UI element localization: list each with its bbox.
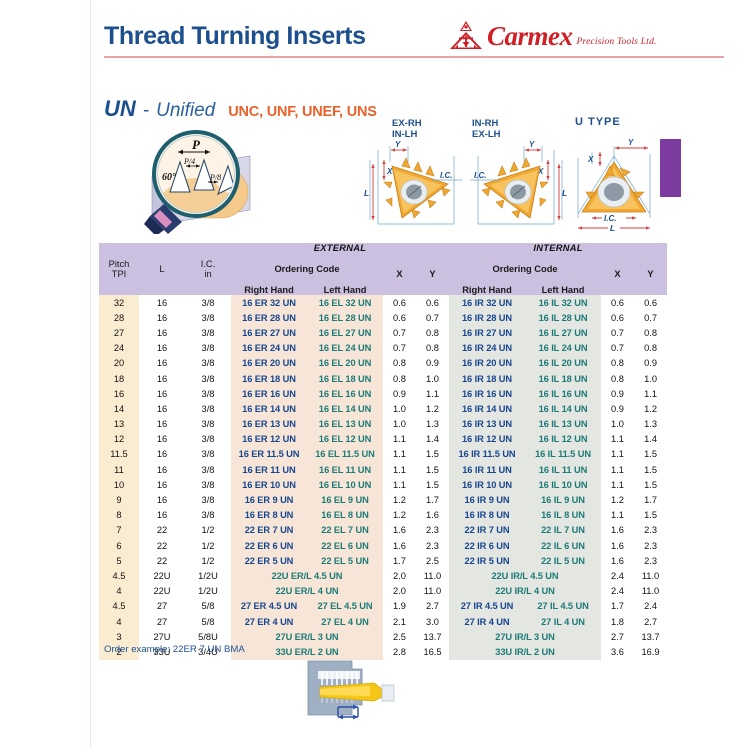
cell-external-left-hand: 27 EL 4 UN xyxy=(307,614,383,629)
cell-external-right-hand: 16 ER 32 UN xyxy=(231,295,307,310)
cell-ic: 3/8 xyxy=(185,477,231,492)
subheader-external-ordering-code: Ordering Code xyxy=(231,253,383,285)
cell-external-left-hand: 16 EL 10 UN xyxy=(307,477,383,492)
cell-internal-left-hand: 16 IL 13 UN xyxy=(525,417,601,432)
cell-external-x: 0.9 xyxy=(383,386,416,401)
cell-internal-y: 0.8 xyxy=(634,341,667,356)
table-row: 6221/222 ER 6 UN22 EL 6 UN1.62.322 IR 6 … xyxy=(99,538,667,553)
svg-text:L: L xyxy=(610,223,615,233)
cell-ic: 3/8 xyxy=(185,447,231,462)
cell-internal-y: 1.5 xyxy=(634,477,667,492)
magnifier-thread-profile-icon: P P/4 P/8 60° xyxy=(100,126,350,234)
cell-internal-x: 0.7 xyxy=(601,325,634,340)
page-header: Thread Turning Inserts Carmex Precision … xyxy=(104,18,724,66)
table-row: 28163/816 ER 28 UN16 EL 28 UN0.60.716 IR… xyxy=(99,310,667,325)
cell-internal-right-hand: 16 IR 16 UN xyxy=(449,386,525,401)
cell-internal-left-hand: 27 IL 4.5 UN xyxy=(525,599,601,614)
cell-internal-right-hand: 16 IR 14 UN xyxy=(449,401,525,416)
cell-external-x: 1.1 xyxy=(383,477,416,492)
cell-l: 16 xyxy=(139,462,185,477)
table-row: 10163/816 ER 10 UN16 EL 10 UN1.11.516 IR… xyxy=(99,477,667,492)
cell-internal-y: 2.3 xyxy=(634,553,667,568)
cell-external-right-hand: 16 ER 28 UN xyxy=(231,310,307,325)
cell-external-y: 16.5 xyxy=(416,644,449,659)
cell-ic: 3/8 xyxy=(185,417,231,432)
cell-external-x: 1.9 xyxy=(383,599,416,614)
cell-internal-x: 2.7 xyxy=(601,629,634,644)
table-row: 11.5163/816 ER 11.5 UN16 EL 11.5 UN1.11.… xyxy=(99,447,667,462)
cell-internal-code: 27U IR/L 3 UN xyxy=(449,629,601,644)
cell-external-x: 0.8 xyxy=(383,371,416,386)
cell-external-left-hand: 22 EL 5 UN xyxy=(307,553,383,568)
cell-external-left-hand: 16 EL 20 UN xyxy=(307,356,383,371)
cell-internal-right-hand: 16 IR 13 UN xyxy=(449,417,525,432)
cell-ic: 3/8 xyxy=(185,310,231,325)
subheader-internal-right-hand: Right Hand xyxy=(449,285,525,295)
table-row: 24163/816 ER 24 UN16 EL 24 UN0.70.816 IR… xyxy=(99,341,667,356)
cell-internal-left-hand: 22 IL 5 UN xyxy=(525,553,601,568)
cell-l: 22 xyxy=(139,553,185,568)
svg-text:I.C.: I.C. xyxy=(440,171,452,180)
svg-text:I.C.: I.C. xyxy=(604,214,616,223)
cell-external-x: 1.1 xyxy=(383,447,416,462)
cell-external-y: 11.0 xyxy=(416,568,449,583)
brand-logo-group: Carmex Precision Tools Ltd. xyxy=(449,20,657,50)
cell-l: 16 xyxy=(139,295,185,310)
cell-internal-x: 1.6 xyxy=(601,523,634,538)
section-thread-types: UNC, UNF, UNEF, UNS xyxy=(228,104,376,120)
cell-external-right-hand: 16 ER 20 UN xyxy=(231,356,307,371)
subheader-internal-left-hand: Left Hand xyxy=(525,285,601,295)
cell-internal-left-hand: 16 IL 16 UN xyxy=(525,386,601,401)
cell-external-right-hand: 16 ER 8 UN xyxy=(231,508,307,523)
cell-internal-y: 1.1 xyxy=(634,386,667,401)
cell-ic: 3/8 xyxy=(185,386,231,401)
cell-ic: 1/2 xyxy=(185,553,231,568)
cell-internal-left-hand: 16 IL 18 UN xyxy=(525,371,601,386)
cell-l: 22 xyxy=(139,523,185,538)
cell-internal-right-hand: 16 IR 18 UN xyxy=(449,371,525,386)
cell-internal-x: 1.0 xyxy=(601,417,634,432)
table-row: 422U1/2U22U ER/L 4 UN2.011.022U IR/L 4 U… xyxy=(99,584,667,599)
cell-external-y: 3.0 xyxy=(416,614,449,629)
cell-internal-left-hand: 16 IL 32 UN xyxy=(525,295,601,310)
cell-pitch: 18 xyxy=(99,371,139,386)
cell-external-left-hand: 16 EL 9 UN xyxy=(307,492,383,507)
cell-internal-x: 1.1 xyxy=(601,432,634,447)
cell-external-right-hand: 16 ER 14 UN xyxy=(231,401,307,416)
cell-internal-x: 0.9 xyxy=(601,401,634,416)
cell-l: 16 xyxy=(139,492,185,507)
cell-external-x: 1.2 xyxy=(383,492,416,507)
threading-operation-diagram-icon xyxy=(300,655,405,735)
cell-internal-y: 1.5 xyxy=(634,447,667,462)
col-header-ic-line1: I.C. xyxy=(185,259,231,269)
cell-internal-right-hand: 16 IR 11.5 UN xyxy=(449,447,525,462)
cell-l: 27 xyxy=(139,614,185,629)
cell-internal-y: 2.7 xyxy=(634,614,667,629)
cell-ic: 3/8 xyxy=(185,356,231,371)
cell-internal-x: 1.6 xyxy=(601,553,634,568)
section-title-group: UN - Unified UNC, UNF, UNEF, UNS xyxy=(104,96,377,122)
cell-ic: 3/8 xyxy=(185,341,231,356)
cell-external-code: 27U ER/L 3 UN xyxy=(231,629,383,644)
cell-internal-x: 3.6 xyxy=(601,644,634,659)
cell-l: 16 xyxy=(139,477,185,492)
cell-internal-x: 0.6 xyxy=(601,310,634,325)
cell-ic: 3/8 xyxy=(185,401,231,416)
cell-internal-y: 11.0 xyxy=(634,568,667,583)
cell-pitch: 6 xyxy=(99,538,139,553)
cell-l: 16 xyxy=(139,325,185,340)
cell-l: 16 xyxy=(139,447,185,462)
cell-internal-x: 1.1 xyxy=(601,462,634,477)
cell-ic: 1/2U xyxy=(185,584,231,599)
cell-internal-x: 1.1 xyxy=(601,508,634,523)
cell-pitch: 16 xyxy=(99,386,139,401)
cell-pitch: 11.5 xyxy=(99,447,139,462)
cell-internal-left-hand: 16 IL 12 UN xyxy=(525,432,601,447)
cell-internal-code: 22U IR/L 4 UN xyxy=(449,584,601,599)
cell-internal-y: 0.7 xyxy=(634,310,667,325)
cell-internal-code: 33U IR/L 2 UN xyxy=(449,644,601,659)
cell-l: 22 xyxy=(139,538,185,553)
page-title: Thread Turning Inserts xyxy=(104,22,366,51)
cell-pitch: 27 xyxy=(99,325,139,340)
cell-external-x: 0.7 xyxy=(383,325,416,340)
cell-internal-left-hand: 16 IL 8 UN xyxy=(525,508,601,523)
cell-internal-code: 22U IR/L 4.5 UN xyxy=(449,568,601,583)
cell-external-y: 2.5 xyxy=(416,553,449,568)
subheader-external-y: Y xyxy=(416,253,449,295)
cell-external-x: 1.7 xyxy=(383,553,416,568)
cell-internal-x: 1.8 xyxy=(601,614,634,629)
cell-ic: 3/8 xyxy=(185,295,231,310)
svg-text:60°: 60° xyxy=(162,172,176,183)
cell-external-right-hand: 16 ER 16 UN xyxy=(231,386,307,401)
cell-external-x: 0.6 xyxy=(383,295,416,310)
cell-pitch: 14 xyxy=(99,401,139,416)
cell-external-left-hand: 16 EL 13 UN xyxy=(307,417,383,432)
cell-internal-x: 1.1 xyxy=(601,447,634,462)
cell-pitch: 5 xyxy=(99,553,139,568)
cell-ic: 1/2 xyxy=(185,523,231,538)
cell-external-y: 11.0 xyxy=(416,584,449,599)
cell-l: 27U xyxy=(139,629,185,644)
cell-external-x: 2.0 xyxy=(383,584,416,599)
cell-external-y: 0.6 xyxy=(416,295,449,310)
cell-internal-x: 1.6 xyxy=(601,538,634,553)
cell-external-left-hand: 16 EL 8 UN xyxy=(307,508,383,523)
cell-l: 16 xyxy=(139,432,185,447)
cell-ic: 5/8 xyxy=(185,614,231,629)
cell-internal-right-hand: 27 IR 4.5 UN xyxy=(449,599,525,614)
svg-text:L: L xyxy=(364,188,369,198)
cell-external-right-hand: 27 ER 4.5 UN xyxy=(231,599,307,614)
cell-internal-right-hand: 16 IR 10 UN xyxy=(449,477,525,492)
cell-internal-right-hand: 22 IR 7 UN xyxy=(449,523,525,538)
cell-external-left-hand: 16 EL 28 UN xyxy=(307,310,383,325)
cell-internal-left-hand: 27 IL 4 UN xyxy=(525,614,601,629)
cell-pitch: 4.5 xyxy=(99,599,139,614)
cell-internal-y: 1.0 xyxy=(634,371,667,386)
cell-internal-left-hand: 16 IL 10 UN xyxy=(525,477,601,492)
cell-internal-y: 1.3 xyxy=(634,417,667,432)
brand-tagline: Precision Tools Ltd. xyxy=(577,37,657,50)
cell-pitch: 4 xyxy=(99,614,139,629)
header-divider xyxy=(104,56,724,58)
cell-ic: 5/8 xyxy=(185,599,231,614)
cell-internal-y: 0.6 xyxy=(634,295,667,310)
cell-ic: 3/8 xyxy=(185,432,231,447)
cell-external-x: 1.1 xyxy=(383,462,416,477)
cell-l: 16 xyxy=(139,401,185,416)
cell-external-y: 2.3 xyxy=(416,523,449,538)
cell-internal-y: 13.7 xyxy=(634,629,667,644)
table-row: 7221/222 ER 7 UN22 EL 7 UN1.62.322 IR 7 … xyxy=(99,523,667,538)
svg-text:P/8: P/8 xyxy=(209,173,221,182)
table-row: 11163/816 ER 11 UN16 EL 11 UN1.11.516 IR… xyxy=(99,462,667,477)
insert-left-line1: EX-RH xyxy=(392,118,422,129)
cell-external-y: 0.8 xyxy=(416,341,449,356)
cell-internal-right-hand: 16 IR 20 UN xyxy=(449,356,525,371)
table-row: 8163/816 ER 8 UN16 EL 8 UN1.21.616 IR 8 … xyxy=(99,508,667,523)
cell-internal-left-hand: 16 IL 27 UN xyxy=(525,325,601,340)
cell-external-x: 1.2 xyxy=(383,508,416,523)
svg-text:Y: Y xyxy=(628,138,634,147)
col-header-ic: I.C. in xyxy=(185,243,231,295)
cell-external-y: 1.2 xyxy=(416,401,449,416)
section-color-tab xyxy=(660,139,681,197)
cell-external-x: 2.1 xyxy=(383,614,416,629)
cell-external-left-hand: 22 EL 7 UN xyxy=(307,523,383,538)
cell-external-right-hand: 16 ER 10 UN xyxy=(231,477,307,492)
cell-external-left-hand: 16 EL 18 UN xyxy=(307,371,383,386)
cell-pitch: 4 xyxy=(99,584,139,599)
cell-internal-y: 16.9 xyxy=(634,644,667,659)
cell-internal-y: 0.9 xyxy=(634,356,667,371)
col-header-l: L xyxy=(139,243,185,295)
table-row: 16163/816 ER 16 UN16 EL 16 UN0.91.116 IR… xyxy=(99,386,667,401)
cell-internal-y: 0.8 xyxy=(634,325,667,340)
subheader-external-x: X xyxy=(383,253,416,295)
cell-internal-y: 2.3 xyxy=(634,538,667,553)
cell-ic: 3/8 xyxy=(185,508,231,523)
cell-pitch: 10 xyxy=(99,477,139,492)
cell-internal-x: 1.1 xyxy=(601,477,634,492)
u-type-title: U TYPE xyxy=(575,116,621,128)
cell-internal-x: 0.9 xyxy=(601,386,634,401)
cell-pitch: 20 xyxy=(99,356,139,371)
cell-external-code: 22U ER/L 4 UN xyxy=(231,584,383,599)
cell-internal-y: 1.5 xyxy=(634,462,667,477)
carmex-triangle-logo-icon xyxy=(449,20,483,50)
table-row: 20163/816 ER 20 UN16 EL 20 UN0.80.916 IR… xyxy=(99,356,667,371)
page-left-rule xyxy=(90,0,91,747)
cell-external-x: 1.6 xyxy=(383,523,416,538)
cell-ic: 3/8 xyxy=(185,492,231,507)
cell-external-left-hand: 16 EL 16 UN xyxy=(307,386,383,401)
col-header-pitch: Pitch TPI xyxy=(99,243,139,295)
cell-external-y: 1.4 xyxy=(416,432,449,447)
cell-l: 16 xyxy=(139,341,185,356)
cell-l: 22U xyxy=(139,584,185,599)
cell-pitch: 32 xyxy=(99,295,139,310)
svg-text:X: X xyxy=(587,155,594,164)
svg-text:X: X xyxy=(386,167,393,176)
cell-external-y: 1.0 xyxy=(416,371,449,386)
cell-l: 16 xyxy=(139,417,185,432)
cell-external-left-hand: 16 EL 11 UN xyxy=(307,462,383,477)
cell-internal-left-hand: 16 IL 11 UN xyxy=(525,462,601,477)
table-header: Pitch TPI L I.C. in EXTERNAL INTERNAL Or… xyxy=(99,243,667,295)
insert-u-type-icon: Y X I.C. L xyxy=(560,132,670,239)
section-name: Unified xyxy=(156,100,215,122)
cell-internal-left-hand: 22 IL 6 UN xyxy=(525,538,601,553)
table-row: 4.5275/827 ER 4.5 UN27 EL 4.5 UN1.92.727… xyxy=(99,599,667,614)
cell-internal-right-hand: 16 IR 24 UN xyxy=(449,341,525,356)
cell-external-x: 1.1 xyxy=(383,432,416,447)
subheader-external-left-hand: Left Hand xyxy=(307,285,383,295)
svg-text:Y: Y xyxy=(395,140,401,149)
cell-external-left-hand: 16 EL 32 UN xyxy=(307,295,383,310)
cell-internal-y: 11.0 xyxy=(634,584,667,599)
cell-internal-left-hand: 16 IL 11.5 UN xyxy=(525,447,601,462)
cell-l: 16 xyxy=(139,386,185,401)
subheader-internal-y: Y xyxy=(634,253,667,295)
cell-internal-left-hand: 16 IL 14 UN xyxy=(525,401,601,416)
u-type-label: U TYPE xyxy=(575,116,621,128)
cell-internal-right-hand: 16 IR 27 UN xyxy=(449,325,525,340)
cell-external-y: 1.5 xyxy=(416,447,449,462)
col-header-ic-line2: in xyxy=(185,269,231,279)
cell-internal-x: 2.4 xyxy=(601,584,634,599)
cell-ic: 3/8 xyxy=(185,325,231,340)
group-header-external: EXTERNAL xyxy=(231,243,449,253)
table-body: 32163/816 ER 32 UN16 EL 32 UN0.60.616 IR… xyxy=(99,295,667,660)
cell-external-y: 1.5 xyxy=(416,477,449,492)
cell-external-x: 2.0 xyxy=(383,568,416,583)
table-row: 12163/816 ER 12 UN16 EL 12 UN1.11.416 IR… xyxy=(99,432,667,447)
cell-external-left-hand: 16 EL 11.5 UN xyxy=(307,447,383,462)
table-row: 4275/827 ER 4 UN27 EL 4 UN2.13.027 IR 4 … xyxy=(99,614,667,629)
cell-pitch: 13 xyxy=(99,417,139,432)
subheader-internal-ordering-code: Ordering Code xyxy=(449,253,601,285)
cell-ic: 1/2U xyxy=(185,568,231,583)
cell-l: 16 xyxy=(139,310,185,325)
cell-internal-left-hand: 16 IL 28 UN xyxy=(525,310,601,325)
cell-external-right-hand: 22 ER 6 UN xyxy=(231,538,307,553)
insert-right-line1: IN-RH xyxy=(472,118,498,129)
cell-internal-y: 1.4 xyxy=(634,432,667,447)
cell-external-right-hand: 16 ER 11.5 UN xyxy=(231,447,307,462)
cell-external-y: 1.6 xyxy=(416,508,449,523)
svg-text:P: P xyxy=(192,137,201,152)
cell-internal-left-hand: 16 IL 24 UN xyxy=(525,341,601,356)
cell-external-left-hand: 16 EL 12 UN xyxy=(307,432,383,447)
table-row: 4.522U1/2U22U ER/L 4.5 UN2.011.022U IR/L… xyxy=(99,568,667,583)
cell-external-right-hand: 16 ER 12 UN xyxy=(231,432,307,447)
cell-pitch: 9 xyxy=(99,492,139,507)
cell-external-x: 2.5 xyxy=(383,629,416,644)
cell-l: 16 xyxy=(139,356,185,371)
table-row: 18163/816 ER 18 UN16 EL 18 UN0.81.016 IR… xyxy=(99,371,667,386)
insert-specification-table: Pitch TPI L I.C. in EXTERNAL INTERNAL Or… xyxy=(99,243,640,660)
cell-internal-left-hand: 22 IL 7 UN xyxy=(525,523,601,538)
cell-external-right-hand: 16 ER 13 UN xyxy=(231,417,307,432)
cell-external-y: 13.7 xyxy=(416,629,449,644)
cell-external-y: 1.5 xyxy=(416,462,449,477)
table-row: 5221/222 ER 5 UN22 EL 5 UN1.72.522 IR 5 … xyxy=(99,553,667,568)
table-row: 327U5/8U27U ER/L 3 UN2.513.727U IR/L 3 U… xyxy=(99,629,667,644)
cell-pitch: 8 xyxy=(99,508,139,523)
svg-text:P/4: P/4 xyxy=(183,157,195,166)
cell-external-right-hand: 16 ER 18 UN xyxy=(231,371,307,386)
cell-external-y: 0.7 xyxy=(416,310,449,325)
cell-external-y: 1.7 xyxy=(416,492,449,507)
cell-external-code: 22U ER/L 4.5 UN xyxy=(231,568,383,583)
cell-external-right-hand: 16 ER 9 UN xyxy=(231,492,307,507)
cell-external-right-hand: 22 ER 7 UN xyxy=(231,523,307,538)
cell-internal-y: 2.4 xyxy=(634,599,667,614)
cell-internal-right-hand: 22 IR 5 UN xyxy=(449,553,525,568)
section-dash: - xyxy=(143,100,149,122)
cell-external-x: 1.0 xyxy=(383,401,416,416)
cell-external-y: 0.8 xyxy=(416,325,449,340)
cell-internal-left-hand: 16 IL 9 UN xyxy=(525,492,601,507)
cell-ic: 3/8 xyxy=(185,371,231,386)
cell-pitch: 11 xyxy=(99,462,139,477)
cell-external-x: 1.0 xyxy=(383,417,416,432)
cell-external-right-hand: 16 ER 27 UN xyxy=(231,325,307,340)
cell-external-x: 0.7 xyxy=(383,341,416,356)
section-code: UN xyxy=(104,96,136,122)
cell-pitch: 12 xyxy=(99,432,139,447)
cell-internal-x: 0.8 xyxy=(601,371,634,386)
cell-internal-y: 1.5 xyxy=(634,508,667,523)
cell-external-left-hand: 22 EL 6 UN xyxy=(307,538,383,553)
cell-external-left-hand: 16 EL 24 UN xyxy=(307,341,383,356)
order-example-note: Order example: 22ER 7 UN BMA xyxy=(104,644,245,655)
cell-l: 16 xyxy=(139,371,185,386)
cell-pitch: 4.5 xyxy=(99,568,139,583)
cell-pitch: 28 xyxy=(99,310,139,325)
subheader-internal-x: X xyxy=(601,253,634,295)
cell-external-left-hand: 16 EL 27 UN xyxy=(307,325,383,340)
cell-internal-y: 1.2 xyxy=(634,401,667,416)
cell-l: 22U xyxy=(139,568,185,583)
cell-external-y: 0.9 xyxy=(416,356,449,371)
cell-internal-x: 0.7 xyxy=(601,341,634,356)
cell-pitch: 3 xyxy=(99,629,139,644)
cell-l: 16 xyxy=(139,508,185,523)
table-row: 13163/816 ER 13 UN16 EL 13 UN1.01.316 IR… xyxy=(99,417,667,432)
cell-ic: 3/8 xyxy=(185,462,231,477)
cell-internal-x: 0.8 xyxy=(601,356,634,371)
cell-l: 27 xyxy=(139,599,185,614)
cell-internal-left-hand: 16 IL 20 UN xyxy=(525,356,601,371)
table-row: 32163/816 ER 32 UN16 EL 32 UN0.60.616 IR… xyxy=(99,295,667,310)
cell-internal-right-hand: 22 IR 6 UN xyxy=(449,538,525,553)
cell-ic: 5/8U xyxy=(185,629,231,644)
cell-external-y: 1.1 xyxy=(416,386,449,401)
cell-ic: 1/2 xyxy=(185,538,231,553)
table-row: 27163/816 ER 27 UN16 EL 27 UN0.70.816 IR… xyxy=(99,325,667,340)
cell-external-x: 1.6 xyxy=(383,538,416,553)
col-header-pitch-line1: Pitch xyxy=(99,259,139,269)
cell-external-right-hand: 22 ER 5 UN xyxy=(231,553,307,568)
cell-external-right-hand: 16 ER 24 UN xyxy=(231,341,307,356)
